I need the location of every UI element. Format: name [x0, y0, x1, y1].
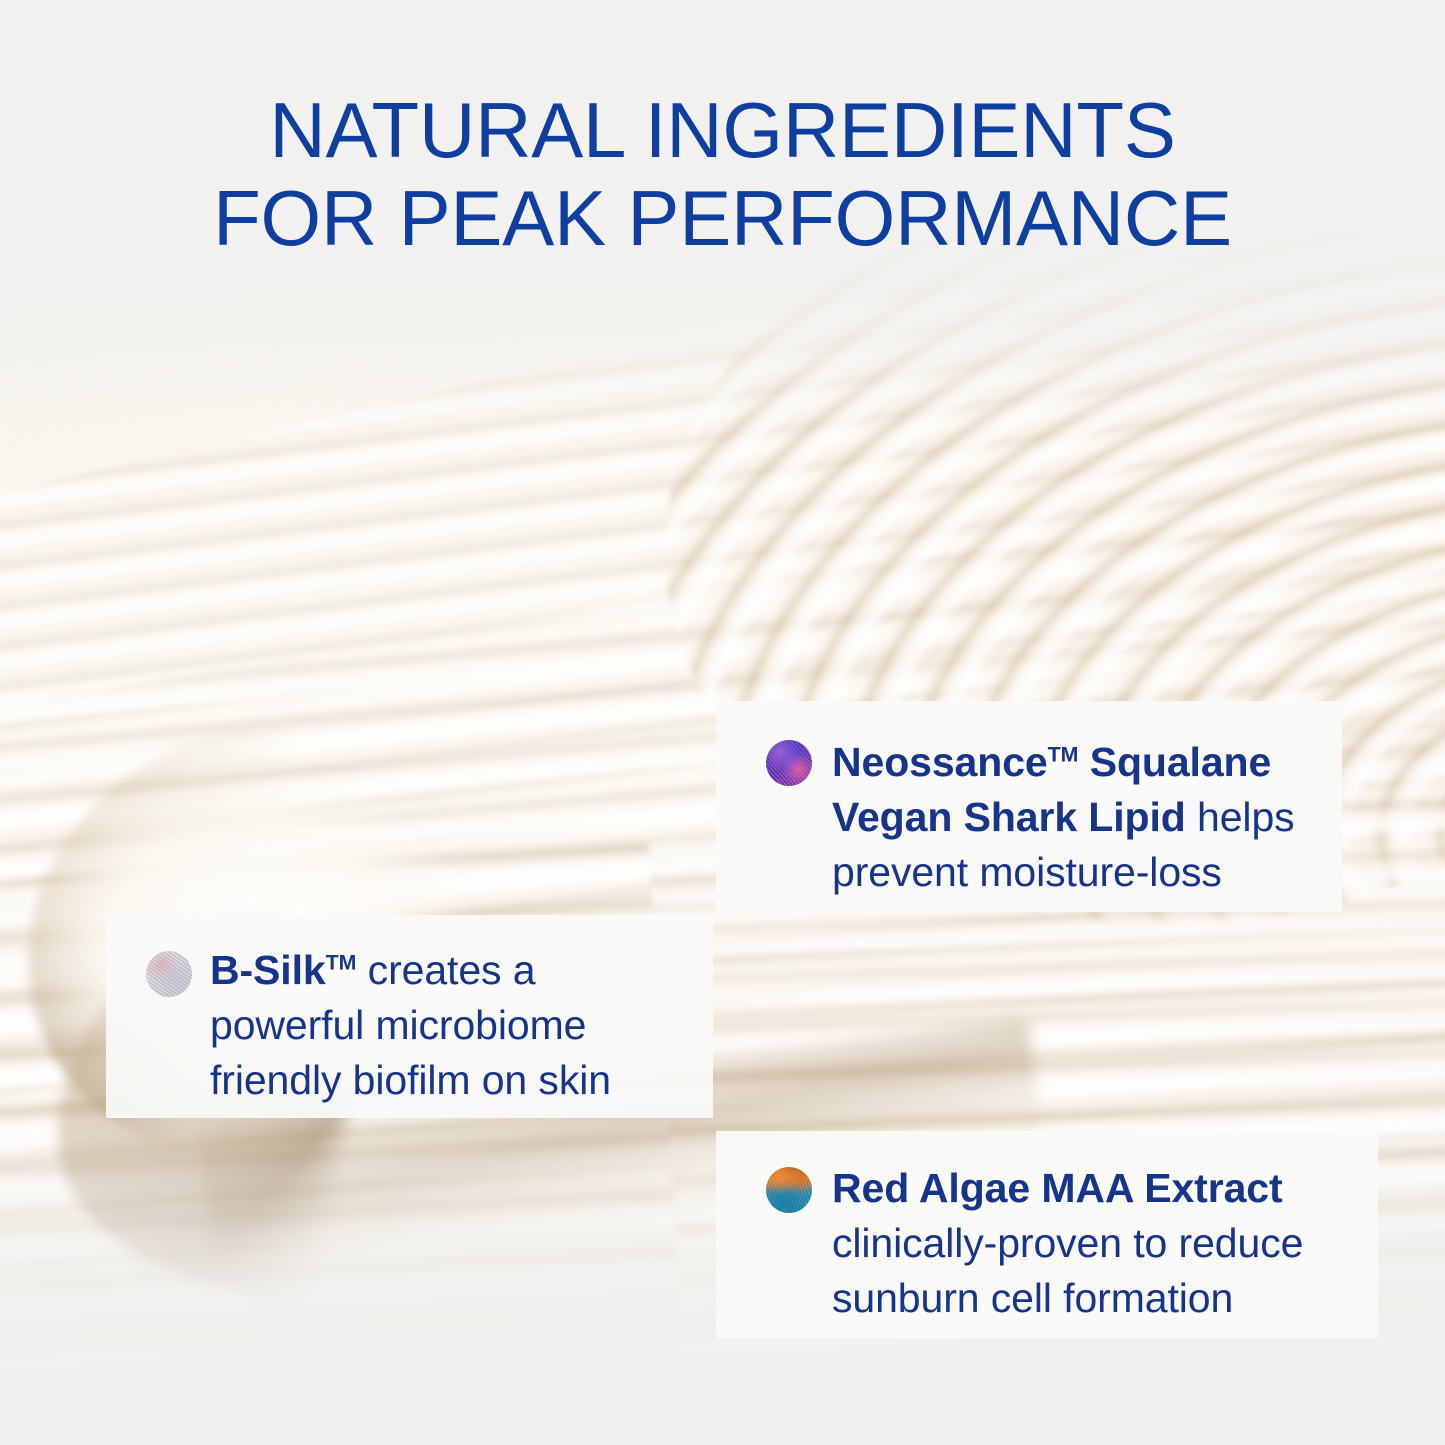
neossance-name-lead: Neossance [832, 739, 1048, 785]
trademark-symbol: TM [1048, 742, 1079, 766]
b-silk-swatch-icon [146, 951, 192, 997]
ingredient-card-bsilk: B-SilkTM creates a powerful microbiome f… [106, 915, 713, 1118]
trademark-symbol: TM [326, 950, 357, 974]
product-ingredient-infographic: NATURAL INGREDIENTS FOR PEAK PERFORMANCE… [0, 0, 1445, 1445]
red-algae-swatch-icon [766, 1167, 812, 1213]
ingredient-card-bsilk-text: B-SilkTM creates a powerful microbiome f… [210, 943, 691, 1108]
ingredient-card-neossance: NeossanceTM Squalane Vegan Shark Lipid h… [716, 701, 1342, 912]
ingredient-card-red-algae-text: Red Algae MAA Extract clinically-proven … [832, 1161, 1354, 1326]
ingredient-card-red-algae: Red Algae MAA Extract clinically-proven … [716, 1131, 1378, 1338]
page-title: NATURAL INGREDIENTS FOR PEAK PERFORMANCE [0, 86, 1445, 262]
redalgae-name-lead: Red Algae MAA Extract [832, 1165, 1283, 1211]
ingredient-card-neossance-text: NeossanceTM Squalane Vegan Shark Lipid h… [832, 735, 1316, 900]
neossance-squalane-swatch-icon [766, 740, 812, 786]
bsilk-name-lead: B-Silk [210, 947, 326, 993]
redalgae-description: clinically-proven to reduce sunburn cell… [832, 1220, 1303, 1321]
